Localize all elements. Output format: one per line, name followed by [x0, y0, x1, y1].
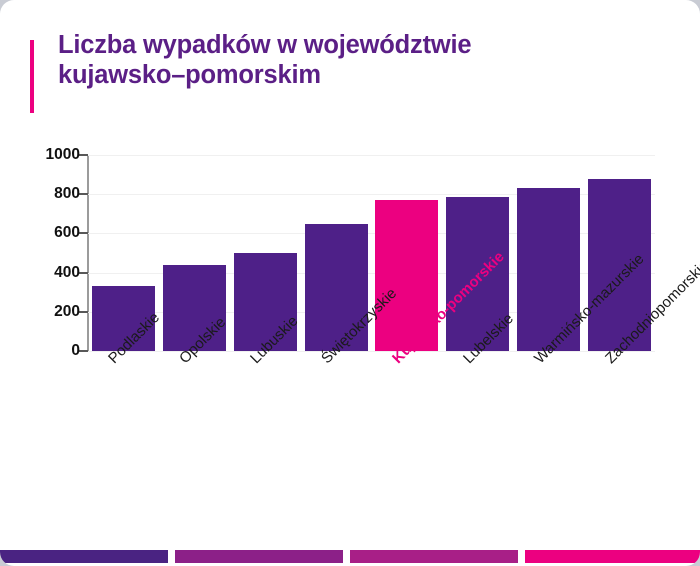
x-axis-category-labels: PodlaskieOpolskieLubuskieŚwiętokrzyskieK… [0, 355, 700, 540]
page-title-line-1: Liczba wypadków w województwie [58, 30, 658, 60]
y-axis-tick-label: 400 [16, 265, 80, 281]
bar-chart: 02004006008001000 PodlaskieOpolskieLubus… [0, 140, 700, 540]
page-title: Liczba wypadków w województwie kujawsko–… [58, 30, 658, 90]
gridline [88, 155, 655, 156]
footer-swatch-4 [525, 550, 700, 563]
gridline [88, 351, 655, 352]
y-axis-tick-label: 600 [16, 225, 80, 241]
page-title-line-2: kujawsko–pomorskim [58, 60, 658, 90]
footer-color-strip [0, 550, 700, 563]
y-axis-tick-label: 200 [16, 304, 80, 320]
y-axis-tick-label: 1000 [16, 147, 80, 163]
title-accent-bar [30, 40, 34, 113]
footer-swatch-1 [0, 550, 168, 563]
y-axis-line [87, 155, 89, 351]
chart-card: Liczba wypadków w województwie kujawsko–… [0, 0, 700, 566]
y-axis-tick-label: 800 [16, 186, 80, 202]
footer-swatch-2 [175, 550, 343, 563]
footer-swatch-3 [350, 550, 518, 563]
